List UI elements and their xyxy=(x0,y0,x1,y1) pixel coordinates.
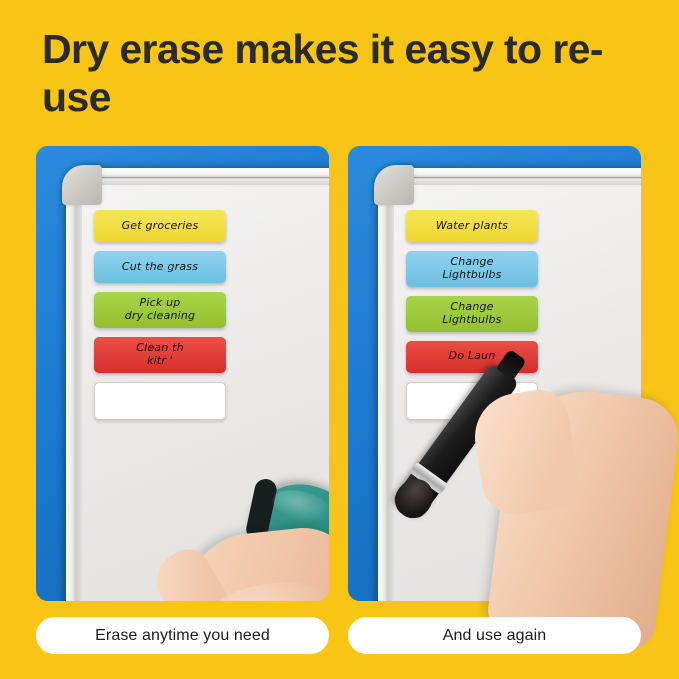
hand-with-marker xyxy=(485,383,679,652)
sticky-note-text: Get groceries xyxy=(122,220,199,233)
sticky-note-text: ChangeLightbulbs xyxy=(442,301,501,327)
note-list-left: Get groceriesCut the grassPick updry cle… xyxy=(94,210,226,429)
sticky-note-text: Do Laun xyxy=(449,350,496,363)
whiteboard-left-rail-right xyxy=(378,168,394,601)
sticky-note: Cut the grass xyxy=(94,251,226,283)
sticky-note-text: Clean thkitr ' xyxy=(136,342,184,368)
sticky-note: Water plants xyxy=(406,210,538,242)
product-infographic: Dry erase makes it easy to re-use Get gr… xyxy=(0,0,679,679)
caption-right: And use again xyxy=(348,617,641,654)
sticky-note: ChangeLightbulbs xyxy=(406,296,538,332)
sticky-note-text: ChangeLightbulbs xyxy=(442,256,501,282)
whiteboard-top-rail-right xyxy=(378,168,641,185)
caption-left: Erase anytime you need xyxy=(36,617,329,654)
sticky-note: Clean thkitr ' xyxy=(94,337,226,373)
sticky-note xyxy=(94,382,226,420)
panel-left: Get groceriesCut the grassPick updry cle… xyxy=(36,146,329,601)
page-title: Dry erase makes it easy to re-use xyxy=(42,25,642,122)
whiteboard-corner-cap-left xyxy=(62,165,102,205)
sticky-note-text: Water plants xyxy=(436,220,508,233)
whiteboard-left-rail-left xyxy=(66,168,82,601)
sticky-note-text: Pick updry cleaning xyxy=(125,297,196,323)
sticky-note-text: Cut the grass xyxy=(122,261,198,274)
whiteboard-top-rail-left xyxy=(66,168,329,185)
sticky-note-text xyxy=(158,394,162,407)
sticky-note: Pick updry cleaning xyxy=(94,292,226,328)
sticky-note: ChangeLightbulbs xyxy=(406,251,538,287)
sticky-note: Get groceries xyxy=(94,210,226,242)
whiteboard-corner-cap-right xyxy=(374,165,414,205)
